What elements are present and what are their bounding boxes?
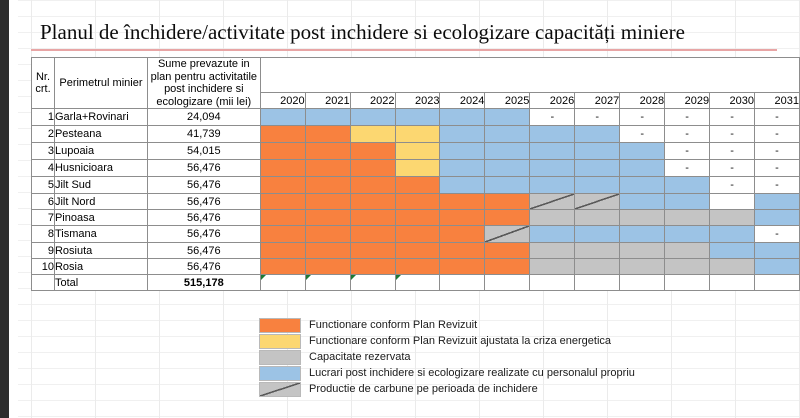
schedule-cell-2027 [575,143,620,160]
dash-marker: - [640,128,644,140]
schedule-cell-2031 [755,243,800,259]
total-sum-cell: 515,178 [147,275,260,291]
total-label-cell: Total [54,275,147,291]
header-sume-line2: plan pentru activitatile [151,71,257,83]
header-nr-crt: Nr. crt. [32,58,55,109]
legend-item: Capacitate rezervata [259,349,635,365]
schedule-cell-2027: - [575,109,620,126]
schedule-cell-2026 [530,143,575,160]
perimeter-name-cell: Tismana [54,226,147,243]
perimeter-name-cell: Rosia [54,259,147,275]
schedule-cell-2029 [665,194,710,210]
schedule-cell-2020 [260,160,305,177]
schedule-cell-2022 [350,160,395,177]
perimeter-name-cell: Jilt Sud [54,177,147,194]
schedule-cell-2025 [485,126,530,143]
schedule-cell-2025 [485,226,530,243]
schedule-cell-2028 [620,194,665,210]
row-index-cell: 9 [32,243,55,259]
table-row: 2Pesteana41,739---- [32,126,800,143]
schedule-cell-2021 [305,226,350,243]
year-header-2024: 2024 [440,93,485,109]
header-nr-line2: crt. [35,83,50,95]
schedule-cell-2027 [575,259,620,275]
schedule-cell-2026 [530,210,575,226]
schedule-cell-2021 [305,210,350,226]
perimeter-name-cell: Jilt Nord [54,194,147,210]
schedule-cell-2028 [620,143,665,160]
table-header-row: Nr. crt. Perimetrul minier Sume prevazut… [32,58,800,93]
schedule-cell-2031: - [755,226,800,243]
schedule-cell-2024 [440,177,485,194]
table-row: 4Husnicioara56,476--- [32,160,800,177]
schedule-cell-2030: - [710,177,755,194]
total-schedule-cell-2027 [575,275,620,291]
schedule-cell-2027 [575,126,620,143]
schedule-cell-2029 [665,226,710,243]
dash-marker: - [730,179,734,191]
row-index-cell: 8 [32,226,55,243]
schedule-cell-2031 [755,194,800,210]
schedule-cell-2028 [620,226,665,243]
table-body: 1Garla+Rovinari24,094------2Pesteana41,7… [32,109,800,291]
schedule-cell-2025 [485,143,530,160]
legend-swatch-blue [259,366,301,381]
year-header-2030: 2030 [710,93,755,109]
schedule-cell-2027 [575,177,620,194]
dash-marker: - [595,111,599,123]
header-sume-line4: ecologizare (mii lei) [156,96,251,108]
schedule-cell-2028 [620,210,665,226]
schedule-cell-2028 [620,177,665,194]
total-index-cell [32,275,55,291]
schedule-cell-2022 [350,226,395,243]
schedule-cell-2026 [530,243,575,259]
row-index-cell: 2 [32,126,55,143]
sum-cell: 24,094 [147,109,260,126]
schedule-cell-2031: - [755,143,800,160]
year-header-2026: 2026 [530,93,575,109]
dash-marker: - [550,111,554,123]
schedule-cell-2030: - [710,109,755,126]
row-index-cell: 5 [32,177,55,194]
schedule-cell-2022 [350,126,395,143]
dash-marker: - [775,228,779,240]
schedule-cell-2024 [440,226,485,243]
total-schedule-cell-2024 [440,275,485,291]
total-schedule-cell-2025 [485,275,530,291]
schedule-cell-2026 [530,126,575,143]
schedule-cell-2031: - [755,160,800,177]
schedule-cell-2025 [485,243,530,259]
table-row: 7Pinoasa56,476 [32,210,800,226]
sum-cell: 56,476 [147,259,260,275]
schedule-cell-2020 [260,177,305,194]
schedule-cell-2028 [620,243,665,259]
schedule-cell-2024 [440,210,485,226]
year-header-2021: 2021 [305,93,350,109]
row-index-cell: 1 [32,109,55,126]
year-header-2025: 2025 [485,93,530,109]
sum-cell: 56,476 [147,194,260,210]
schedule-cell-2023 [395,194,440,210]
table-row: 10Rosia56,476 [32,259,800,275]
dash-marker: - [730,162,734,174]
page-title: Planul de închidere/activitate post inch… [40,20,685,45]
schedule-cell-2022 [350,243,395,259]
row-index-cell: 3 [32,143,55,160]
schedule-cell-2021 [305,243,350,259]
row-index-cell: 7 [32,210,55,226]
schedule-cell-2024 [440,160,485,177]
dash-marker: - [775,145,779,157]
header-sume: Sume prevazute in plan pentru activitati… [147,58,260,109]
year-header-2031: 2031 [755,93,800,109]
schedule-cell-2029: - [665,126,710,143]
dash-marker: - [685,162,689,174]
schedule-cell-2027 [575,160,620,177]
schedule-cell-2020 [260,259,305,275]
schedule-cell-2024 [440,109,485,126]
legend-item: Lucrari post inchidere si ecologizare re… [259,365,635,381]
schedule-cell-2024 [440,243,485,259]
legend: Functionare conform Plan RevizuitFunctio… [259,317,635,397]
schedule-cell-2030: - [710,160,755,177]
legend-swatch-gray-diag [259,382,301,397]
total-schedule-cell-2021 [305,275,350,291]
legend-label: Functionare conform Plan Revizuit ajusta… [309,334,611,349]
schedule-cell-2029 [665,210,710,226]
schedule-cell-2022 [350,177,395,194]
table-row: 3Lupoaia54,015--- [32,143,800,160]
legend-item: Functionare conform Plan Revizuit [259,317,635,333]
schedule-cell-2020 [260,243,305,259]
total-schedule-cell-2022 [350,275,395,291]
row-index-cell: 6 [32,194,55,210]
header-years-spacer [260,58,799,93]
schedule-cell-2020 [260,226,305,243]
schedule-cell-2020 [260,109,305,126]
table-row: 9Rosiuta56,476 [32,243,800,259]
schedule-cell-2028 [620,259,665,275]
schedule-cell-2022 [350,210,395,226]
schedule-cell-2026 [530,177,575,194]
dash-marker: - [775,111,779,123]
schedule-cell-2031 [755,210,800,226]
schedule-cell-2021 [305,143,350,160]
schedule-cell-2024 [440,194,485,210]
schedule-cell-2025 [485,160,530,177]
schedule-cell-2024 [440,143,485,160]
schedule-cell-2023 [395,226,440,243]
row-index-cell: 10 [32,259,55,275]
schedule-cell-2025 [485,210,530,226]
closure-plan-table: Nr. crt. Perimetrul minier Sume prevazut… [31,57,800,291]
schedule-cell-2029 [665,243,710,259]
header-sume-line3: post inchidere si [164,83,244,95]
total-schedule-cell-2023 [395,275,440,291]
schedule-cell-2024 [440,126,485,143]
dash-marker: - [775,179,779,191]
perimeter-name-cell: Pesteana [54,126,147,143]
dash-marker: - [775,128,779,140]
sum-cell: 56,476 [147,226,260,243]
title-underline-rule [31,49,777,51]
schedule-cell-2030 [710,194,755,210]
schedule-cell-2026: - [530,109,575,126]
schedule-cell-2025 [485,194,530,210]
sum-cell: 56,476 [147,243,260,259]
schedule-cell-2027 [575,210,620,226]
perimeter-name-cell: Lupoaia [54,143,147,160]
sum-cell: 54,015 [147,143,260,160]
year-header-2020: 2020 [260,93,305,109]
schedule-cell-2023 [395,177,440,194]
dash-marker: - [730,128,734,140]
table-row: 1Garla+Rovinari24,094------ [32,109,800,126]
schedule-cell-2020 [260,126,305,143]
schedule-cell-2028 [620,160,665,177]
table-head: Nr. crt. Perimetrul minier Sume prevazut… [32,58,800,109]
total-schedule-cell-2031 [755,275,800,291]
schedule-cell-2027 [575,226,620,243]
legend-label: Productie de carbune pe perioada de inch… [309,382,538,397]
schedule-cell-2031: - [755,126,800,143]
total-schedule-cell-2020 [260,275,305,291]
year-header-2029: 2029 [665,93,710,109]
total-schedule-cell-2029 [665,275,710,291]
schedule-cell-2031: - [755,177,800,194]
dash-marker: - [775,162,779,174]
year-header-2028: 2028 [620,93,665,109]
schedule-cell-2021 [305,126,350,143]
legend-label: Lucrari post inchidere si ecologizare re… [309,366,635,381]
legend-swatch-yellow [259,334,301,349]
schedule-cell-2021 [305,177,350,194]
schedule-cell-2023 [395,243,440,259]
schedule-cell-2030 [710,243,755,259]
sum-cell: 56,476 [147,160,260,177]
table-row: 5Jilt Sud56,476-- [32,177,800,194]
header-perimeter: Perimetrul minier [54,58,147,109]
schedule-cell-2030 [710,226,755,243]
schedule-cell-2029: - [665,109,710,126]
schedule-cell-2023 [395,109,440,126]
schedule-cell-2031: - [755,109,800,126]
year-header-2027: 2027 [575,93,620,109]
schedule-cell-2020 [260,194,305,210]
schedule-cell-2030: - [710,126,755,143]
schedule-cell-2031 [755,259,800,275]
schedule-cell-2030 [710,210,755,226]
row-index-cell: 4 [32,160,55,177]
schedule-cell-2022 [350,194,395,210]
total-schedule-cell-2026 [530,275,575,291]
perimeter-name-cell: Rosiuta [54,243,147,259]
schedule-cell-2022 [350,259,395,275]
year-header-2022: 2022 [350,93,395,109]
table-row: 6Jilt Nord56,476 [32,194,800,210]
schedule-cell-2028: - [620,109,665,126]
schedule-cell-2021 [305,160,350,177]
dash-marker: - [640,111,644,123]
legend-item: Productie de carbune pe perioada de inch… [259,381,635,397]
legend-item: Functionare conform Plan Revizuit ajusta… [259,333,635,349]
schedule-cell-2030: - [710,143,755,160]
dash-marker: - [730,111,734,123]
schedule-cell-2029 [665,259,710,275]
dash-marker: - [730,145,734,157]
schedule-cell-2026 [530,259,575,275]
legend-swatch-orange [259,318,301,333]
header-nr-line1: Nr. [36,71,50,83]
perimeter-name-cell: Pinoasa [54,210,147,226]
spreadsheet-page: Planul de închidere/activitate post inch… [0,0,800,418]
schedule-cell-2025 [485,177,530,194]
schedule-cell-2027 [575,194,620,210]
perimeter-name-cell: Garla+Rovinari [54,109,147,126]
schedule-cell-2028: - [620,126,665,143]
schedule-cell-2026 [530,226,575,243]
schedule-cell-2023 [395,160,440,177]
schedule-cell-2023 [395,259,440,275]
legend-label: Capacitate rezervata [309,350,411,365]
schedule-cell-2027 [575,243,620,259]
sum-cell: 41,739 [147,126,260,143]
total-schedule-cell-2028 [620,275,665,291]
dash-marker: - [685,111,689,123]
perimeter-name-cell: Husnicioara [54,160,147,177]
schedule-cell-2025 [485,109,530,126]
schedule-cell-2029 [665,177,710,194]
schedule-cell-2023 [395,143,440,160]
schedule-cell-2020 [260,210,305,226]
schedule-cell-2024 [440,259,485,275]
legend-label: Functionare conform Plan Revizuit [309,318,477,333]
year-header-2023: 2023 [395,93,440,109]
schedule-cell-2025 [485,259,530,275]
dash-marker: - [685,128,689,140]
total-schedule-cell-2030 [710,275,755,291]
schedule-cell-2021 [305,194,350,210]
sum-cell: 56,476 [147,177,260,194]
table-row: 8Tismana56,476- [32,226,800,243]
schedule-cell-2029: - [665,143,710,160]
schedule-cell-2023 [395,210,440,226]
schedule-cell-2030 [710,259,755,275]
dash-marker: - [685,145,689,157]
header-sume-line1: Sume prevazute in [158,58,250,70]
schedule-cell-2021 [305,259,350,275]
schedule-cell-2026 [530,160,575,177]
schedule-cell-2023 [395,126,440,143]
legend-swatch-gray [259,350,301,365]
schedule-cell-2022 [350,109,395,126]
schedule-cell-2020 [260,143,305,160]
schedule-cell-2022 [350,143,395,160]
schedule-cell-2021 [305,109,350,126]
schedule-cell-2026 [530,194,575,210]
sum-cell: 56,476 [147,210,260,226]
table-total-row: Total515,178 [32,275,800,291]
schedule-cell-2029: - [665,160,710,177]
